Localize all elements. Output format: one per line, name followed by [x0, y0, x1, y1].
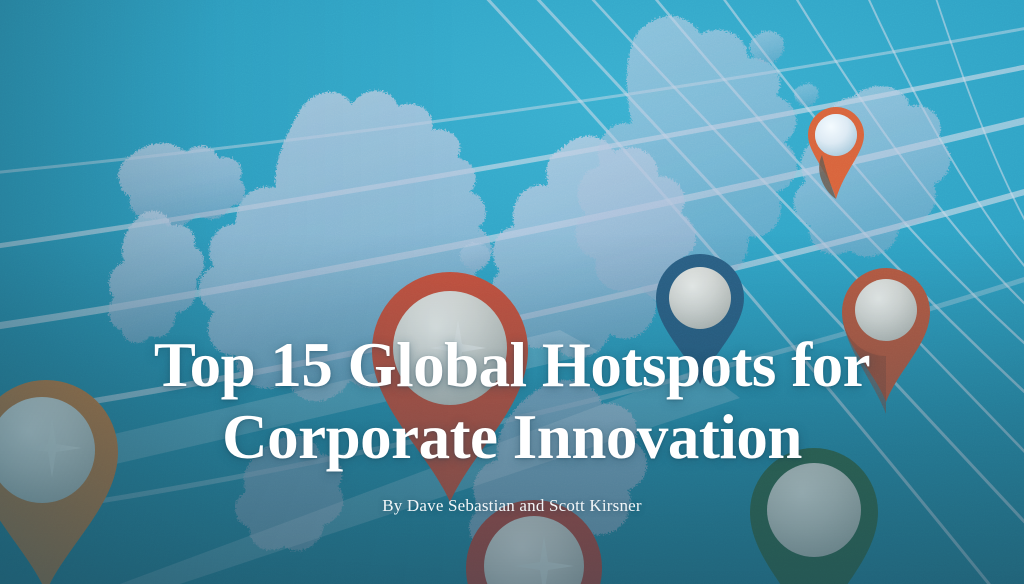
page-title-line-1: Top 15 Global Hotspots for — [154, 330, 870, 400]
article-hero-banner: Top 15 Global Hotspots for Corporate Inn… — [0, 0, 1024, 584]
article-byline: By Dave Sebastian and Scott Kirsner — [0, 496, 1024, 516]
page-title: Top 15 Global Hotspots for Corporate Inn… — [0, 330, 1024, 474]
page-title-line-2: Corporate Innovation — [56, 402, 968, 474]
hero-text-block: Top 15 Global Hotspots for Corporate Inn… — [0, 330, 1024, 516]
